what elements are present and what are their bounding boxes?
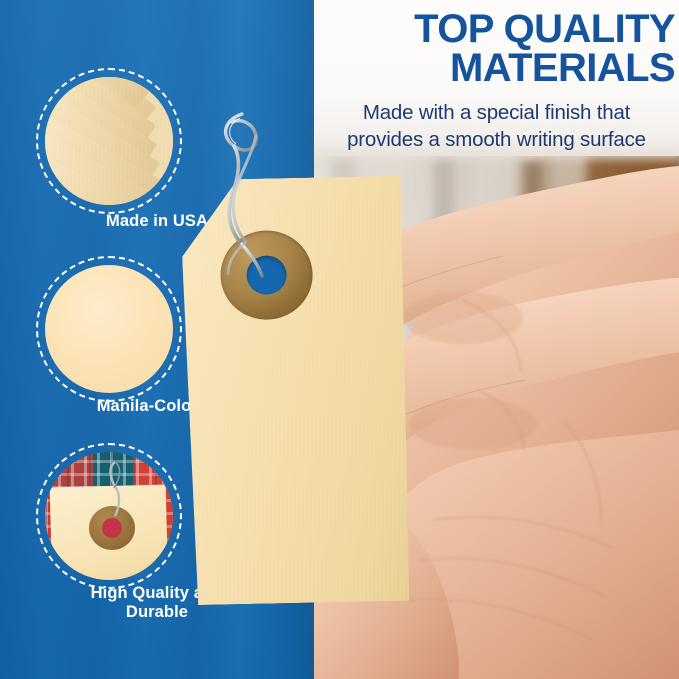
mini-tag-wire-icon [89, 458, 145, 530]
page-title: TOP QUALITY MATERIALS [318, 10, 675, 88]
headline-line-1: TOP QUALITY [414, 7, 675, 51]
headline-line-2: MATERIALS [318, 49, 675, 88]
infographic-canvas: TOP QUALITY MATERIALS Made with a specia… [0, 0, 679, 679]
page-subtitle: Made with a special finish that provides… [316, 100, 677, 153]
subhead-line-1: Made with a special finish that [363, 101, 630, 124]
product-tag-group [150, 150, 450, 630]
product-tag [181, 176, 410, 606]
